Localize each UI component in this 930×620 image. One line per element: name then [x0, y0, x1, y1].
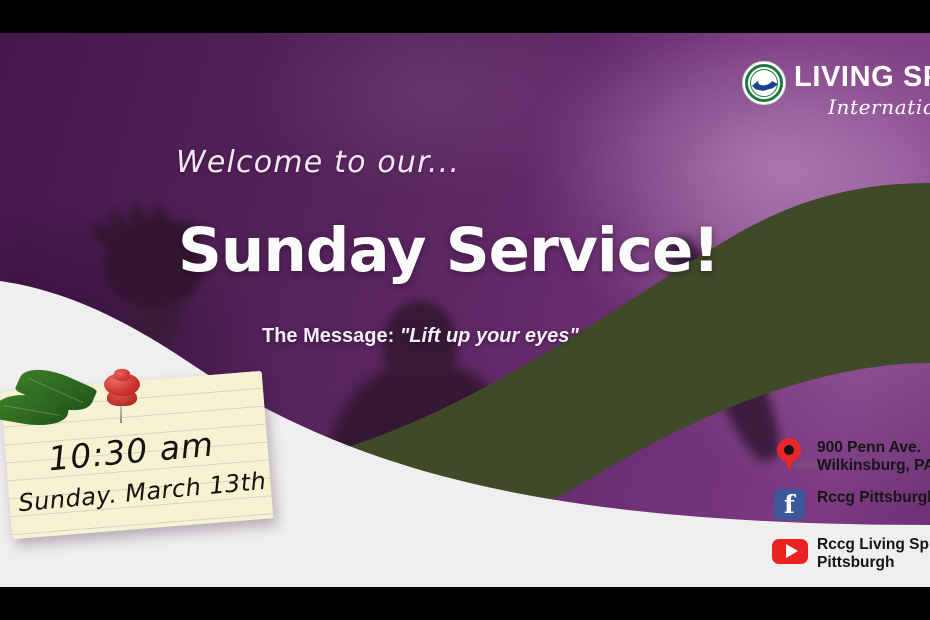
letterbox-bar-bottom	[0, 587, 930, 620]
page-title: Sunday Service!	[178, 220, 719, 281]
youtube-channel-line-1: Rccg Living Springs	[817, 536, 930, 554]
sticky-note: 10:30 am Sunday. March 13th	[0, 355, 292, 545]
facebook-handle[interactable]: Rccg Pittsburgh	[817, 488, 930, 507]
facebook-icon[interactable]: f	[772, 488, 806, 522]
contact-row-facebook[interactable]: f Rccg Pittsburgh	[772, 488, 930, 522]
logo-name: LIVING SPRINGS	[794, 61, 930, 94]
address-line-2: Wilkinsburg, PA	[817, 457, 930, 475]
message-title: "Lift up your eyes"	[400, 325, 579, 347]
contact-row-address: 900 Penn Ave. Wilkinsburg, PA	[772, 438, 930, 475]
welcome-text: Welcome to our...	[176, 145, 460, 180]
message-line: The Message: "Lift up your eyes"	[262, 325, 579, 348]
map-pin-hole	[784, 445, 794, 455]
map-pin-shadow	[792, 460, 818, 469]
pushpin-icon	[100, 367, 144, 423]
youtube-play-triangle	[786, 544, 798, 558]
message-label: The Message:	[262, 325, 394, 347]
address-line-1: 900 Penn Ave.	[817, 439, 930, 457]
leaf-vein	[3, 405, 60, 416]
pushpin-neck	[114, 369, 130, 381]
sunday-service-slide: Welcome to our... Sunday Service! The Me…	[0, 33, 930, 587]
facebook-f-glyph: f	[784, 492, 795, 517]
contact-row-youtube[interactable]: Rccg Living Springs Pittsburgh	[772, 535, 930, 572]
youtube-channel-line-2: Pittsburgh	[817, 554, 930, 572]
youtube-icon[interactable]	[772, 535, 806, 569]
video-player-frame: Welcome to our... Sunday Service! The Me…	[0, 0, 930, 620]
logo-subtitle: International Pittsburgh	[828, 95, 930, 119]
map-pin-icon	[772, 438, 806, 472]
letterbox-bar-top	[0, 0, 930, 33]
address-text: 900 Penn Ave. Wilkinsburg, PA	[817, 438, 930, 475]
church-logo: LIVING SPRINGS International Pittsburgh	[742, 55, 930, 135]
dove-seal-icon	[742, 61, 786, 105]
pushpin-needle	[120, 403, 122, 423]
contact-info: 900 Penn Ave. Wilkinsburg, PA f Rccg Pit…	[772, 438, 930, 585]
youtube-channel[interactable]: Rccg Living Springs Pittsburgh	[817, 535, 930, 572]
